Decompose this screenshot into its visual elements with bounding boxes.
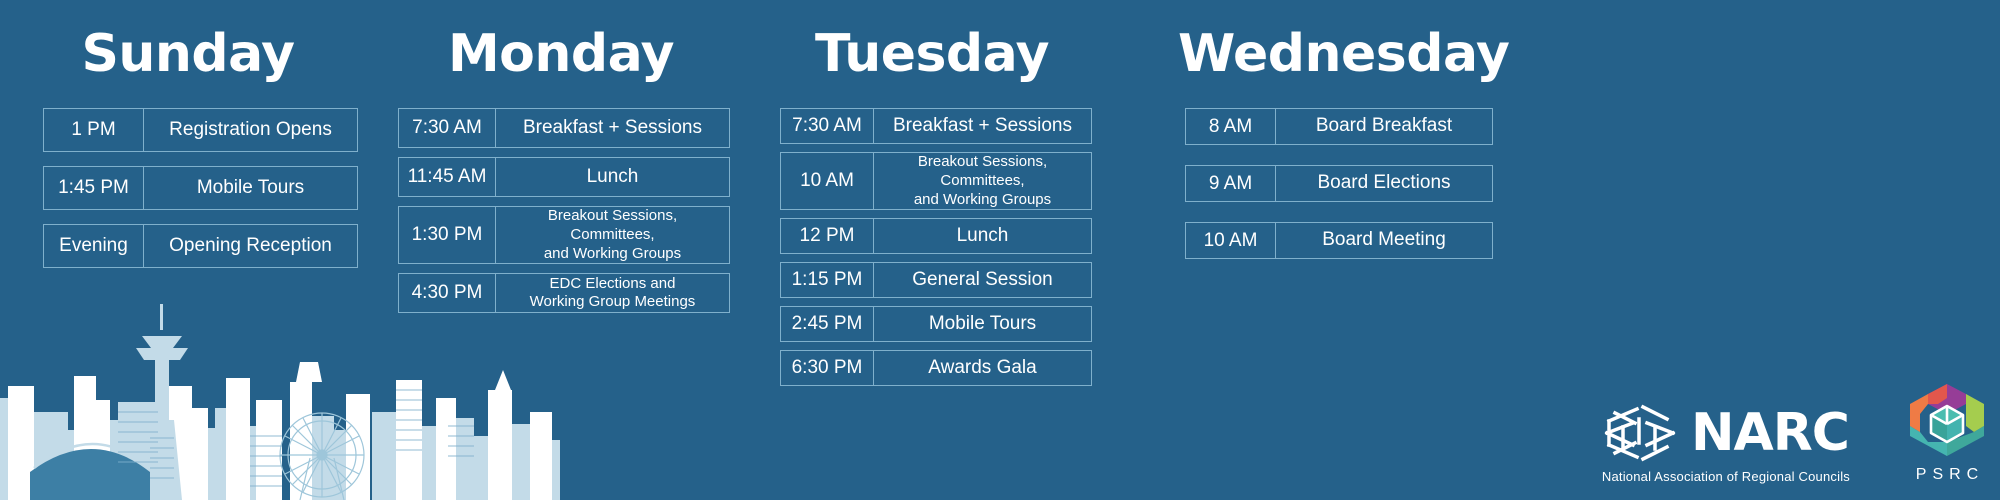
day-title-sunday: Sunday xyxy=(18,28,358,80)
row-time: 2:45 PM xyxy=(781,307,874,341)
schedule-rows-monday: 7:30 AM Breakfast + Sessions 11:45 AM Lu… xyxy=(398,108,730,313)
schedule-row[interactable]: 11:45 AM Lunch xyxy=(398,157,730,197)
day-title-monday: Monday xyxy=(392,28,730,80)
schedule-row[interactable]: Evening Opening Reception xyxy=(43,224,358,268)
row-event: Opening Reception xyxy=(144,225,357,267)
schedule-row[interactable]: 2:45 PM Mobile Tours xyxy=(780,306,1092,342)
row-time: 10 AM xyxy=(1186,223,1276,258)
row-time: 12 PM xyxy=(781,219,874,253)
schedule-rows-sunday: 1 PM Registration Opens 1:45 PM Mobile T… xyxy=(43,108,358,268)
schedule-row[interactable]: 8 AM Board Breakfast xyxy=(1185,108,1493,145)
psrc-logo: PSRC xyxy=(1908,382,1986,484)
schedule-row[interactable]: 1:30 PM Breakout Sessions, Committees,an… xyxy=(398,206,730,264)
schedule-row[interactable]: 10 AM Breakout Sessions, Committees,and … xyxy=(780,152,1092,210)
psrc-wordmark: PSRC xyxy=(1910,466,1984,484)
row-event: EDC Elections andWorking Group Meetings xyxy=(496,274,729,312)
row-time: 8 AM xyxy=(1186,109,1276,144)
narc-tagline: National Association of Regional Council… xyxy=(1602,469,1850,484)
schedule-row[interactable]: 10 AM Board Meeting xyxy=(1185,222,1493,259)
schedule-row[interactable]: 1:15 PM General Session xyxy=(780,262,1092,298)
row-time: 4:30 PM xyxy=(399,274,496,312)
row-event: Mobile Tours xyxy=(874,307,1091,341)
narc-logo: NARC National Association of Regional Co… xyxy=(1602,403,1850,484)
psrc-hexagon-icon xyxy=(1908,382,1986,458)
stadium-arch xyxy=(30,449,150,500)
row-time: 1:30 PM xyxy=(399,207,496,263)
schedule-row[interactable]: 1:45 PM Mobile Tours xyxy=(43,166,358,210)
row-event: Board Breakfast xyxy=(1276,109,1492,144)
day-column-wednesday: Wednesday 8 AM Board Breakfast 9 AM Boar… xyxy=(1178,0,1493,279)
row-time: 10 AM xyxy=(781,153,874,209)
row-event: Awards Gala xyxy=(874,351,1091,385)
row-time: 1 PM xyxy=(44,109,144,151)
row-event: General Session xyxy=(874,263,1091,297)
row-time: 1:45 PM xyxy=(44,167,144,209)
ferris-wheel xyxy=(280,413,364,500)
row-event: Breakfast + Sessions xyxy=(874,109,1091,143)
day-column-tuesday: Tuesday 7:30 AM Breakfast + Sessions 10 … xyxy=(772,0,1092,394)
row-event: Breakout Sessions, Committees,and Workin… xyxy=(874,153,1091,209)
schedule-row[interactable]: 6:30 PM Awards Gala xyxy=(780,350,1092,386)
schedule-row[interactable]: 7:30 AM Breakfast + Sessions xyxy=(398,108,730,148)
row-event: Breakout Sessions, Committees,and Workin… xyxy=(496,207,729,263)
schedule-rows-tuesday: 7:30 AM Breakfast + Sessions 10 AM Break… xyxy=(780,108,1092,386)
day-column-monday: Monday 7:30 AM Breakfast + Sessions 11:4… xyxy=(392,0,730,322)
row-event: Lunch xyxy=(496,158,729,196)
day-title-tuesday: Tuesday xyxy=(772,28,1092,80)
narc-wordmark: NARC xyxy=(1691,407,1849,459)
schedule-row[interactable]: 7:30 AM Breakfast + Sessions xyxy=(780,108,1092,144)
row-time: 1:15 PM xyxy=(781,263,874,297)
row-time: Evening xyxy=(44,225,144,267)
schedule-rows-wednesday: 8 AM Board Breakfast 9 AM Board Election… xyxy=(1185,108,1493,259)
narc-lattice-icon xyxy=(1603,403,1683,463)
row-event: Board Elections xyxy=(1276,166,1492,201)
schedule-row[interactable]: 1 PM Registration Opens xyxy=(43,108,358,152)
day-title-wednesday: Wednesday xyxy=(1178,28,1493,80)
row-time: 11:45 AM xyxy=(399,158,496,196)
schedule-graphic: Sunday 1 PM Registration Opens 1:45 PM M… xyxy=(0,0,2000,500)
row-event: Registration Opens xyxy=(144,109,357,151)
row-time: 6:30 PM xyxy=(781,351,874,385)
space-needle xyxy=(136,304,188,500)
row-time: 7:30 AM xyxy=(399,109,496,147)
row-time: 7:30 AM xyxy=(781,109,874,143)
row-time: 9 AM xyxy=(1186,166,1276,201)
schedule-row[interactable]: 9 AM Board Elections xyxy=(1185,165,1493,202)
day-column-sunday: Sunday 1 PM Registration Opens 1:45 PM M… xyxy=(18,0,358,282)
row-event: Mobile Tours xyxy=(144,167,357,209)
row-event: Lunch xyxy=(874,219,1091,253)
schedule-row[interactable]: 4:30 PM EDC Elections andWorking Group M… xyxy=(398,273,730,313)
row-event: Breakfast + Sessions xyxy=(496,109,729,147)
row-event: Board Meeting xyxy=(1276,223,1492,258)
schedule-row[interactable]: 12 PM Lunch xyxy=(780,218,1092,254)
logo-group: NARC National Association of Regional Co… xyxy=(1602,382,1986,484)
